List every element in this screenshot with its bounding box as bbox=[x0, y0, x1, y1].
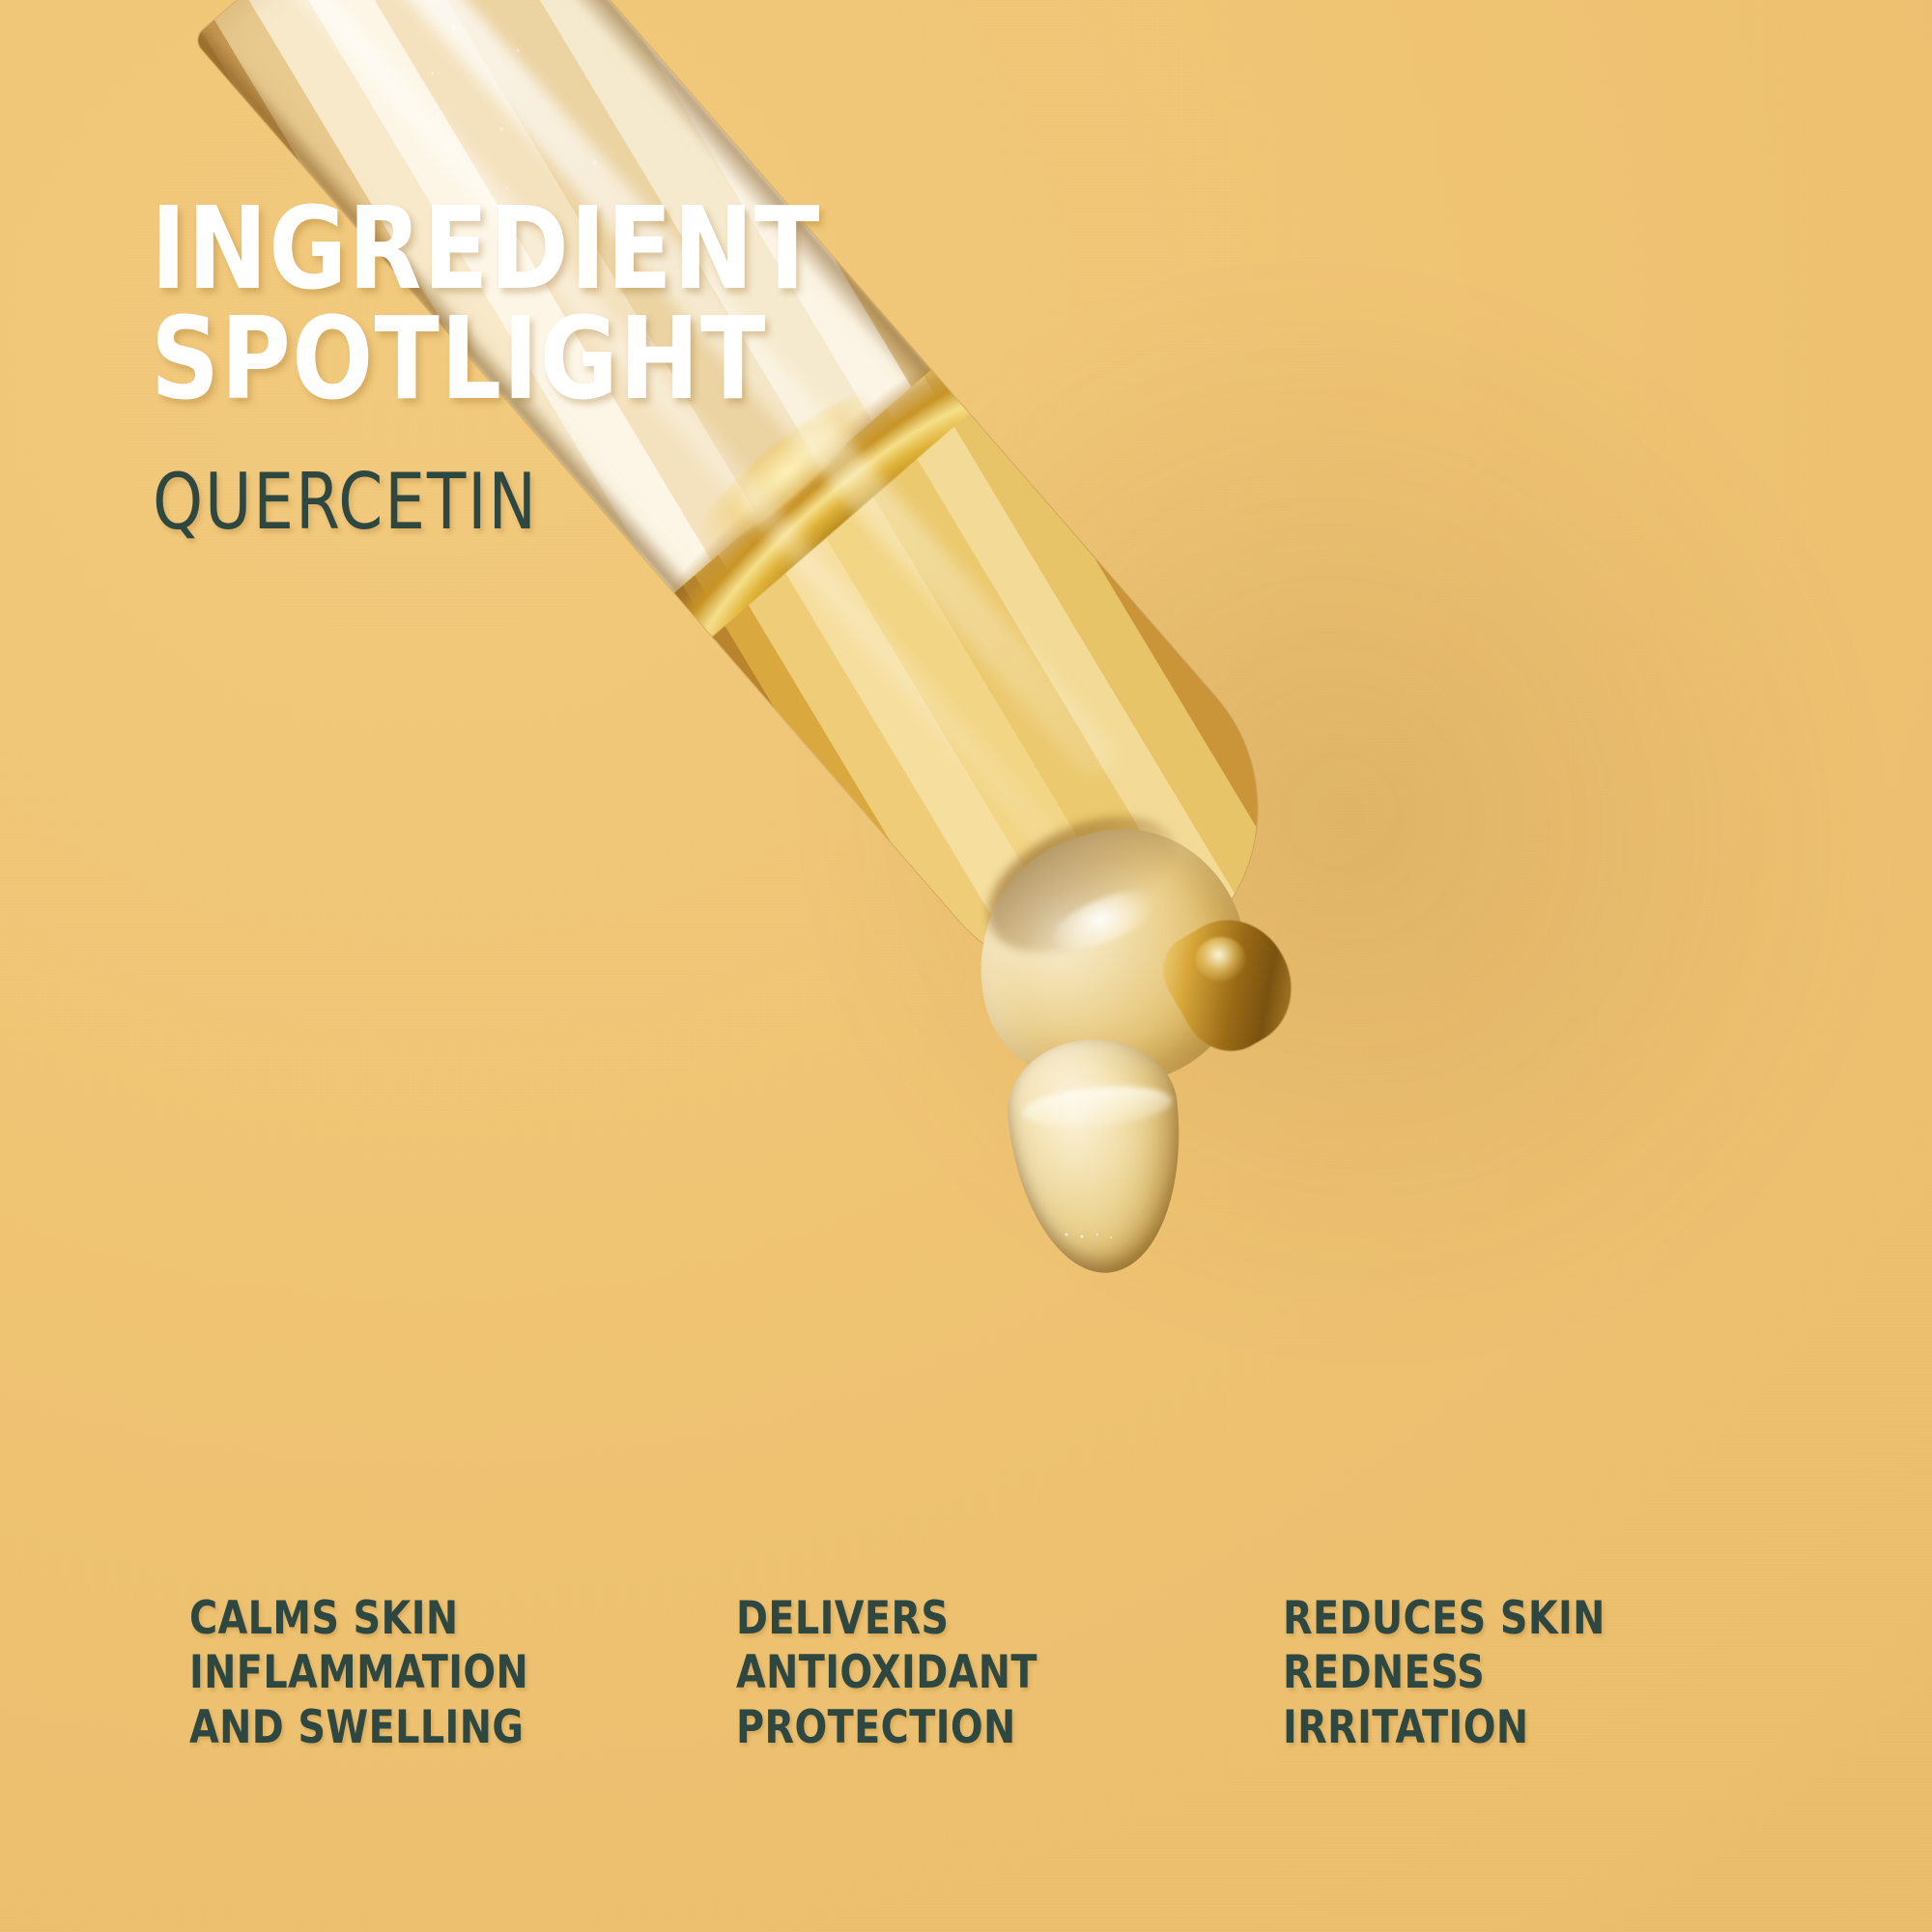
poster-canvas: INGREDIENT SPOTLIGHT QUERCETIN CALMS SKI… bbox=[0, 0, 1932, 1932]
benefit-item-2: DELIVERS ANTIOXIDANT PROTECTION bbox=[736, 1592, 1250, 1755]
page-title: INGREDIENT SPOTLIGHT bbox=[151, 193, 821, 414]
benefit-item-3: REDUCES SKIN REDNESS IRRITATION bbox=[1283, 1592, 1797, 1755]
benefit-item-1: CALMS SKIN INFLAMMATION AND SWELLING bbox=[189, 1592, 703, 1755]
benefits-row: CALMS SKIN INFLAMMATION AND SWELLING DEL… bbox=[189, 1592, 1832, 1755]
ingredient-name: QUERCETIN bbox=[153, 464, 538, 541]
